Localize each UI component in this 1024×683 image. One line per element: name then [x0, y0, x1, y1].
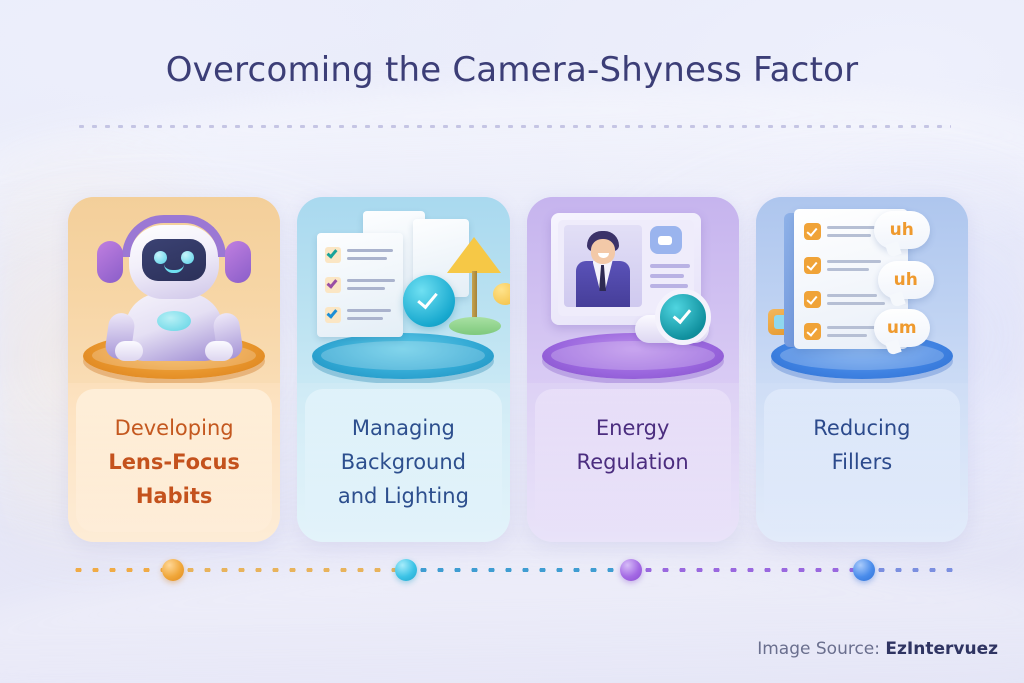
lamp-base	[449, 317, 501, 335]
lamp-shade	[447, 237, 501, 273]
checkbox-2	[325, 277, 341, 293]
timeline-node-1[interactable]	[162, 559, 184, 581]
timeline-segment-2	[182, 568, 397, 572]
card-managing-background-and-lighting[interactable]: Managing Background and Lighting	[297, 197, 509, 542]
title-divider	[75, 125, 951, 128]
card-label-1: Developing Lens-Focus Habits	[76, 389, 272, 532]
card-2-line-3: and Lighting	[338, 479, 469, 513]
card-label-4: Reducing Fillers	[764, 389, 960, 532]
check-icon	[806, 259, 817, 271]
checkbox-1	[804, 223, 821, 240]
participant-video-tile	[564, 225, 642, 307]
card-3-line-1: Energy	[596, 411, 670, 445]
text-line	[827, 334, 867, 337]
text-line	[347, 287, 385, 290]
card-1-line-2: Lens-Focus	[108, 445, 240, 479]
timeline-node-2[interactable]	[395, 559, 417, 581]
filler-bubble-3: um	[874, 309, 930, 347]
card-2-line-2: Background	[341, 445, 466, 479]
text-line	[827, 294, 877, 297]
checklist-sheet	[317, 233, 403, 337]
illustration-checklist-documents-lamp	[297, 197, 509, 383]
verified-check-badge	[403, 275, 455, 327]
check-icon	[327, 307, 338, 319]
card-label-2: Managing Background and Lighting	[305, 389, 501, 532]
headphone-band	[122, 215, 226, 257]
robot-chest-light	[157, 311, 191, 331]
card-reducing-fillers[interactable]: uh uh um Reducing Fillers	[756, 197, 968, 542]
verified-check-badge	[655, 289, 711, 345]
card-energy-regulation[interactable]: Energy Regulation	[527, 197, 739, 542]
text-line	[827, 302, 885, 305]
card-1-line-1: Developing	[115, 411, 234, 445]
text-line	[347, 249, 393, 252]
checkbox-3	[804, 291, 821, 308]
headphone-cup-right	[225, 241, 251, 283]
timeline-segment-1	[70, 568, 166, 572]
text-line	[347, 309, 391, 312]
robot-hand-left	[115, 341, 143, 361]
text-line	[650, 284, 688, 288]
card-3-line-2: Regulation	[577, 445, 689, 479]
text-line	[827, 268, 869, 271]
lamp-pole	[472, 271, 477, 323]
text-line	[347, 317, 383, 320]
text-line	[827, 260, 881, 263]
filler-bubble-2: uh	[878, 261, 934, 299]
timeline-segment-5	[873, 568, 956, 572]
person-face	[591, 239, 615, 264]
platform-disc	[312, 333, 494, 379]
footer-prefix: Image Source:	[757, 639, 885, 659]
timeline-segment-4	[640, 568, 855, 572]
checklist-rows	[317, 233, 403, 337]
check-icon	[806, 225, 817, 237]
card-4-line-2: Fillers	[832, 445, 893, 479]
decor-ball	[493, 283, 509, 305]
checkbox-3	[325, 307, 341, 323]
text-line	[650, 274, 684, 278]
robot-figure	[99, 211, 249, 361]
text-line	[827, 234, 871, 237]
progress-timeline	[70, 552, 956, 588]
card-row: Developing Lens-Focus Habits	[68, 197, 968, 542]
check-icon	[672, 305, 691, 324]
text-line	[347, 279, 395, 282]
card-developing-lens-focus-habits[interactable]: Developing Lens-Focus Habits	[68, 197, 280, 542]
robot-smile	[164, 264, 184, 273]
checkbox-1	[325, 247, 341, 263]
headphone-cup-left	[97, 241, 123, 283]
card-2-line-1: Managing	[352, 411, 455, 445]
illustration-video-call-screen	[527, 197, 739, 383]
check-icon	[327, 247, 338, 259]
check-icon	[327, 277, 338, 289]
illustration-robot-with-headphones	[68, 197, 280, 383]
text-line	[650, 264, 690, 268]
text-line	[347, 257, 387, 260]
card-1-line-3: Habits	[136, 479, 213, 513]
timeline-segment-3	[415, 568, 621, 572]
check-icon	[806, 293, 817, 305]
card-4-line-1: Reducing	[813, 411, 910, 445]
page-title: Overcoming the Camera-Shyness Factor	[0, 50, 1024, 90]
check-icon	[806, 325, 817, 337]
robot-hand-right	[205, 341, 233, 361]
checkbox-4	[804, 323, 821, 340]
timeline-node-4[interactable]	[853, 559, 875, 581]
text-line	[827, 326, 879, 329]
timeline-node-3[interactable]	[620, 559, 642, 581]
card-label-3: Energy Regulation	[535, 389, 731, 532]
text-line	[827, 226, 879, 229]
infographic-canvas: Overcoming the Camera-Shyness Factor	[0, 0, 1024, 683]
image-source-footer: Image Source: EzIntervuez	[757, 639, 998, 659]
illustration-checklist-filler-words: uh uh um	[756, 197, 968, 383]
check-icon	[417, 288, 438, 310]
checkbox-2	[804, 257, 821, 274]
footer-source-name: EzIntervuez	[885, 639, 998, 659]
battery-icon	[650, 226, 682, 254]
filler-bubble-1: uh	[874, 211, 930, 249]
